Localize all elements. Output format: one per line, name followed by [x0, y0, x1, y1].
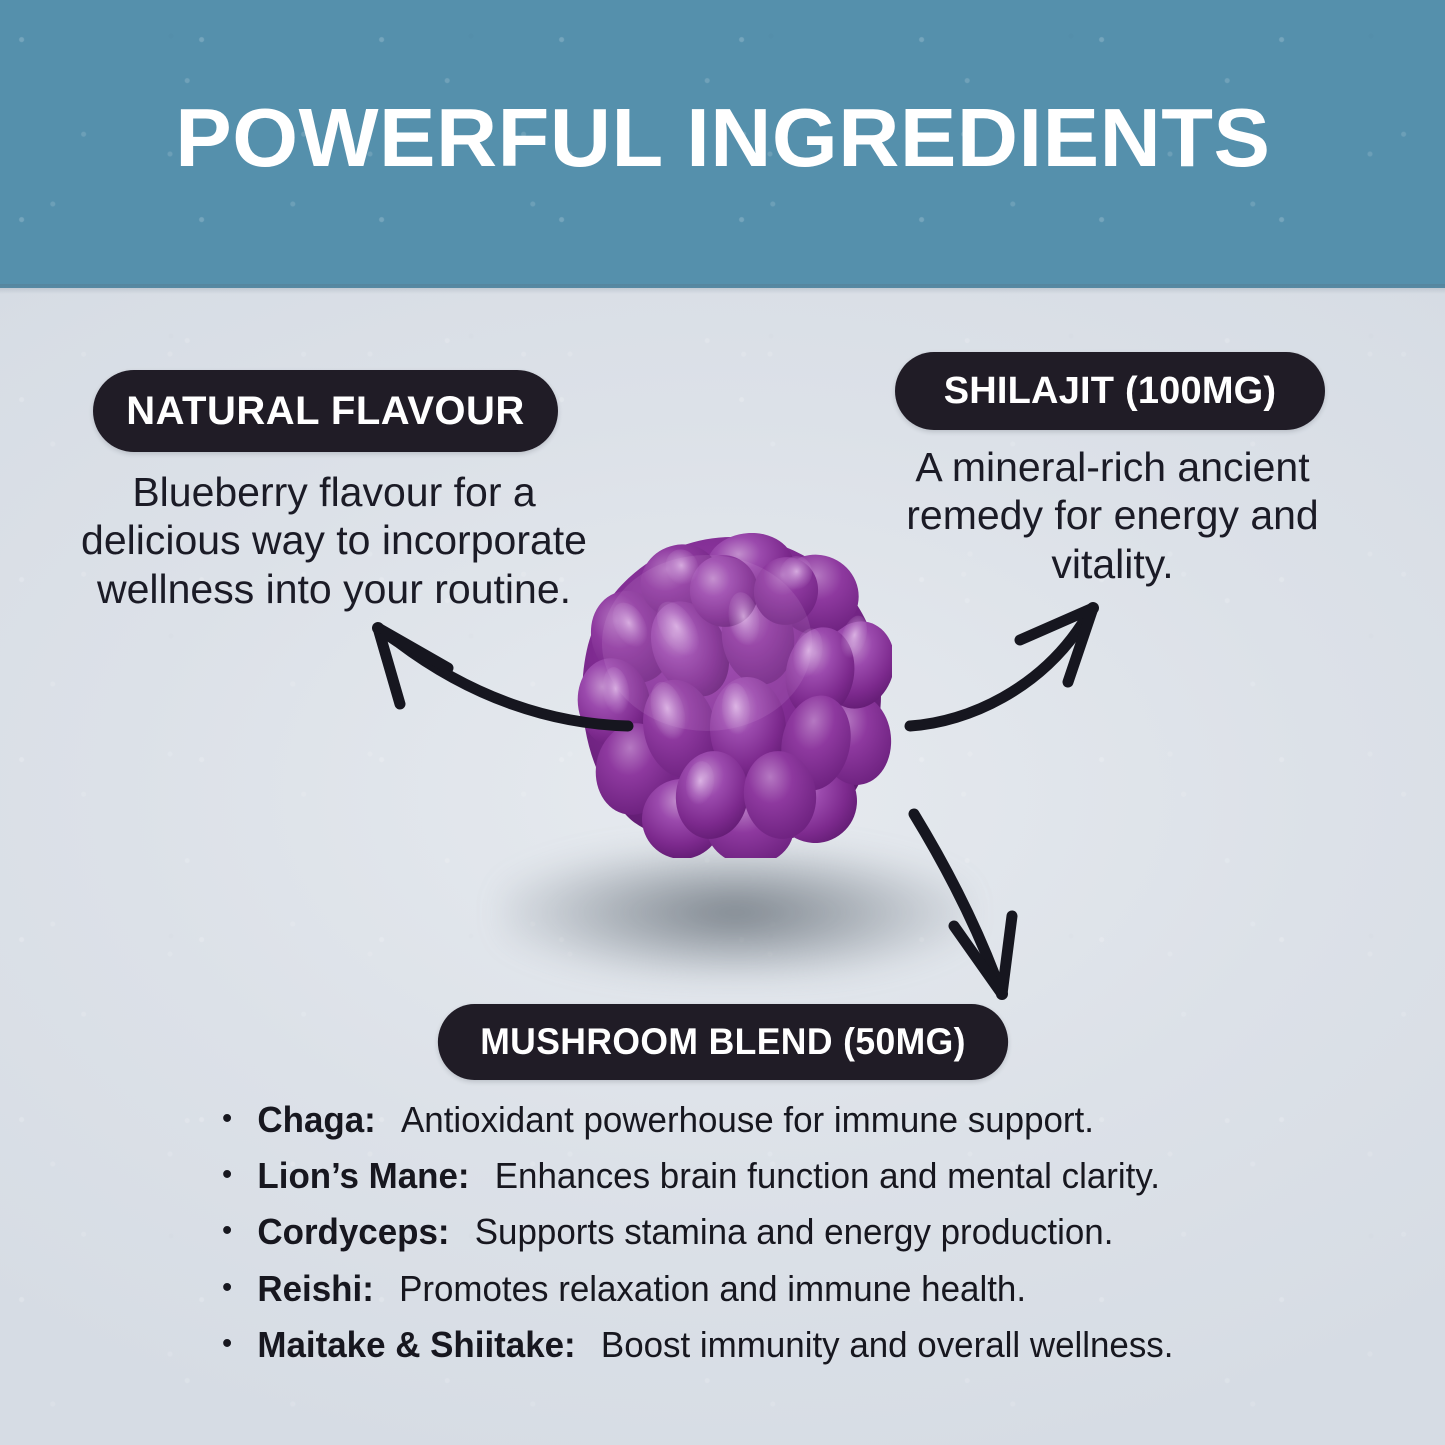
- mushroom-blend-label: MUSHROOM BLEND (50MG): [438, 1004, 1008, 1080]
- bullet-icon: •: [222, 1273, 232, 1303]
- bullet-icon: •: [222, 1329, 232, 1359]
- list-item: • Lion’s Mane: Enhances brain function a…: [222, 1154, 1260, 1197]
- shilajit-description: A mineral-rich ancient remedy for energy…: [890, 443, 1335, 588]
- mushroom-description: Boost immunity and overall wellness.: [601, 1323, 1174, 1366]
- mushroom-description: Promotes relaxation and immune health.: [399, 1267, 1026, 1310]
- mushroom-name: Chaga:: [257, 1098, 375, 1141]
- page-title: POWERFUL INGREDIENTS: [175, 96, 1270, 179]
- bullet-icon: •: [222, 1104, 232, 1134]
- arrow-to-shilajit: [900, 596, 1130, 768]
- banner-shadow-divider: [0, 284, 1445, 294]
- mushroom-description: Enhances brain function and mental clari…: [495, 1154, 1160, 1197]
- list-item: • Maitake & Shiitake: Boost immunity and…: [222, 1323, 1260, 1366]
- mushroom-name: Maitake & Shiitake:: [257, 1323, 575, 1366]
- mushroom-name: Reishi:: [257, 1267, 373, 1310]
- mushroom-description: Antioxidant powerhouse for immune suppor…: [401, 1098, 1094, 1141]
- mushroom-blend-label-text: MUSHROOM BLEND (50MG): [480, 1021, 966, 1063]
- natural-flavour-description: Blueberry flavour for a delicious way to…: [54, 468, 614, 613]
- bullet-icon: •: [222, 1216, 232, 1246]
- bullet-icon: •: [222, 1160, 232, 1190]
- header-banner: POWERFUL INGREDIENTS: [0, 0, 1445, 288]
- gummy-drop-shadow: [500, 845, 970, 980]
- mushroom-name: Lion’s Mane:: [257, 1154, 469, 1197]
- natural-flavour-label: NATURAL FLAVOUR: [93, 370, 558, 452]
- list-item: • Chaga: Antioxidant powerhouse for immu…: [222, 1098, 1260, 1141]
- shilajit-label-text: SHILAJIT (100MG): [944, 370, 1277, 413]
- natural-flavour-label-text: NATURAL FLAVOUR: [126, 389, 525, 434]
- ingredients-infographic: POWERFUL INGREDIENTS: [0, 0, 1445, 1445]
- mushroom-description: Supports stamina and energy production.: [475, 1210, 1114, 1253]
- mushroom-name: Cordyceps:: [257, 1210, 449, 1253]
- mushroom-blend-list: • Chaga: Antioxidant powerhouse for immu…: [222, 1098, 1292, 1379]
- list-item: • Reishi: Promotes relaxation and immune…: [222, 1267, 1260, 1310]
- purple-blueberry-gummy: [572, 533, 892, 858]
- list-item: • Cordyceps: Supports stamina and energy…: [222, 1210, 1260, 1253]
- shilajit-label: SHILAJIT (100MG): [895, 352, 1325, 430]
